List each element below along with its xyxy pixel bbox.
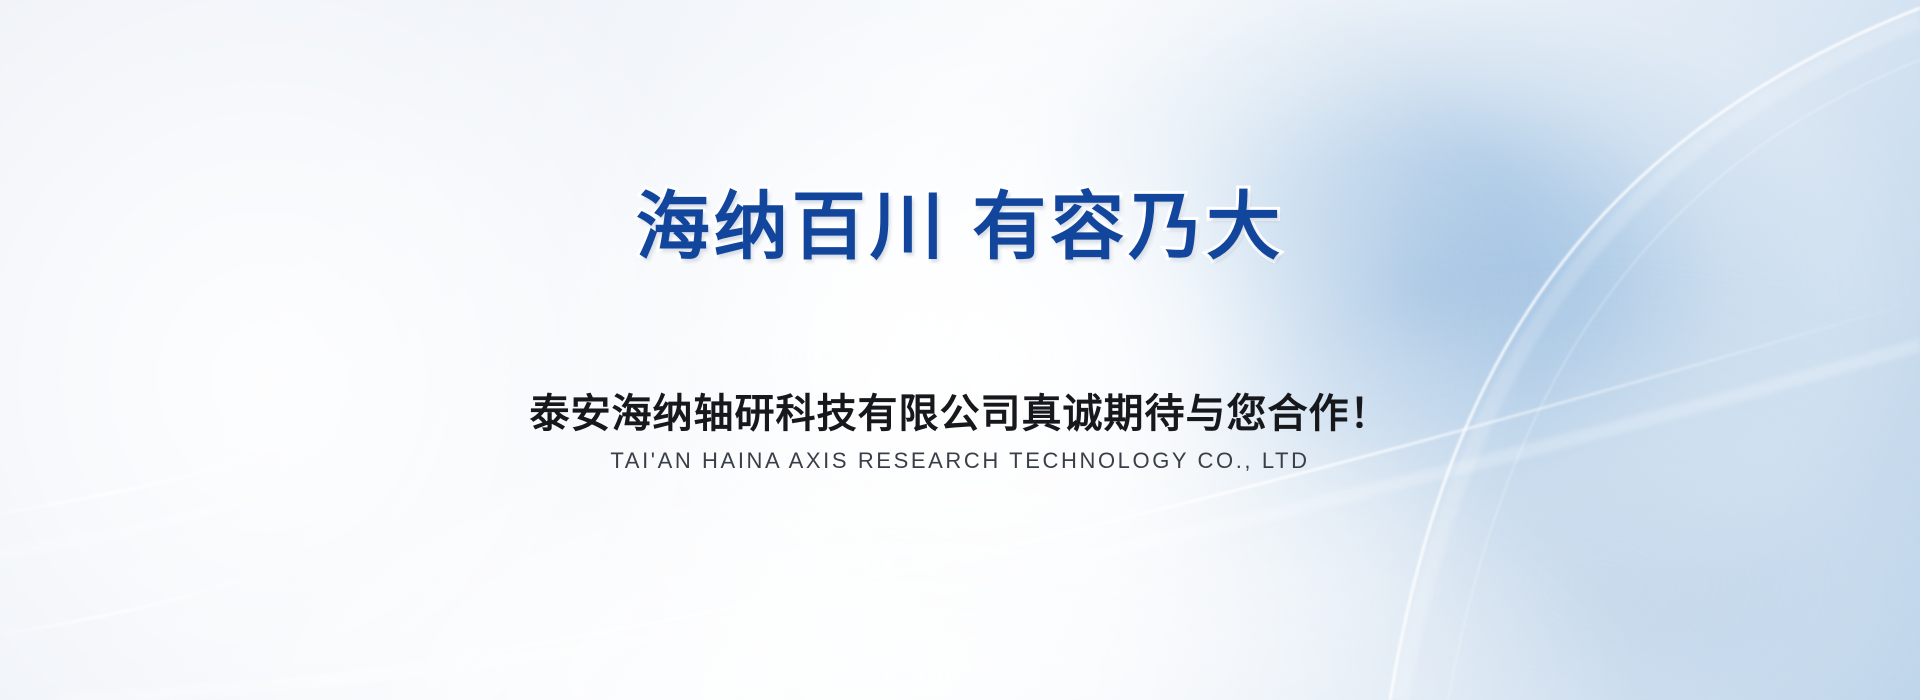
hero-banner: 海纳百川 有容乃大 泰安海纳轴研科技有限公司真诚期待与您合作！ TAI'AN H… — [0, 0, 1920, 700]
subtitle-english: TAI'AN HAINA AXIS RESEARCH TECHNOLOGY CO… — [0, 448, 1920, 474]
page-title: 海纳百川 有容乃大 — [0, 186, 1920, 267]
subtitle-chinese: 泰安海纳轴研科技有限公司真诚期待与您合作！ — [0, 390, 1920, 438]
banner-content: 海纳百川 有容乃大 泰安海纳轴研科技有限公司真诚期待与您合作！ TAI'AN H… — [0, 0, 1920, 700]
